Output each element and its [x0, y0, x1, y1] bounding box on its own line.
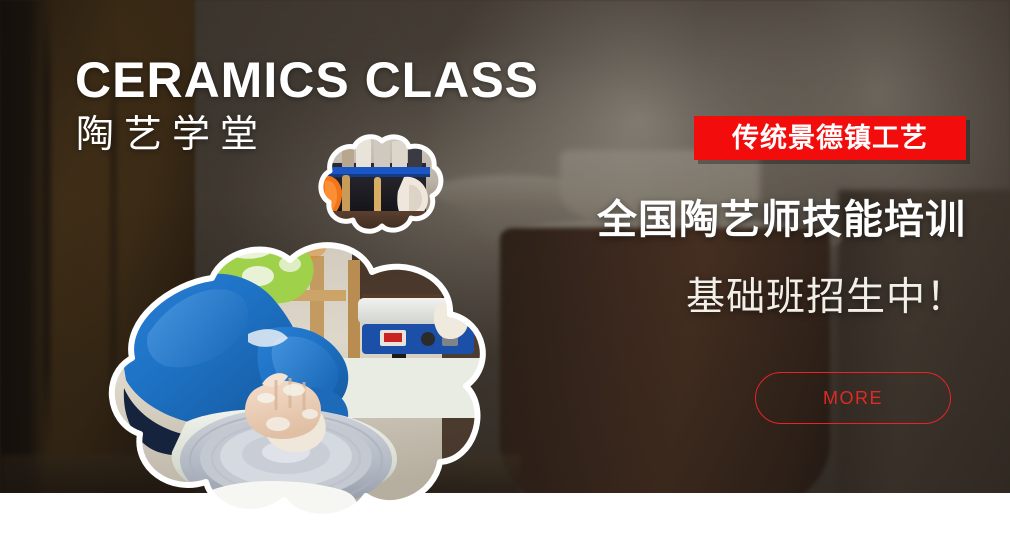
headline-text: 全国陶艺师技能培训 — [570, 197, 966, 243]
ribbon-label: 传统景德镇工艺 — [732, 125, 928, 152]
page-title-chinese: 陶艺学堂 — [76, 113, 268, 155]
more-button[interactable]: MORE — [755, 372, 951, 424]
page-title-english: CERAMICS CLASS — [75, 55, 539, 105]
cloud-icon — [312, 133, 444, 237]
cloud-icon — [62, 238, 532, 516]
status-badge: 传统景德镇工艺 — [694, 116, 966, 160]
small-cloud-photo — [312, 133, 444, 237]
more-button-label: MORE — [823, 389, 883, 407]
main-cloud-photo — [62, 238, 532, 516]
subheadline-text: 基础班招生中！ — [570, 275, 966, 321]
ceramics-class-banner: CERAMICS CLASS 陶艺学堂 — [0, 0, 1010, 538]
